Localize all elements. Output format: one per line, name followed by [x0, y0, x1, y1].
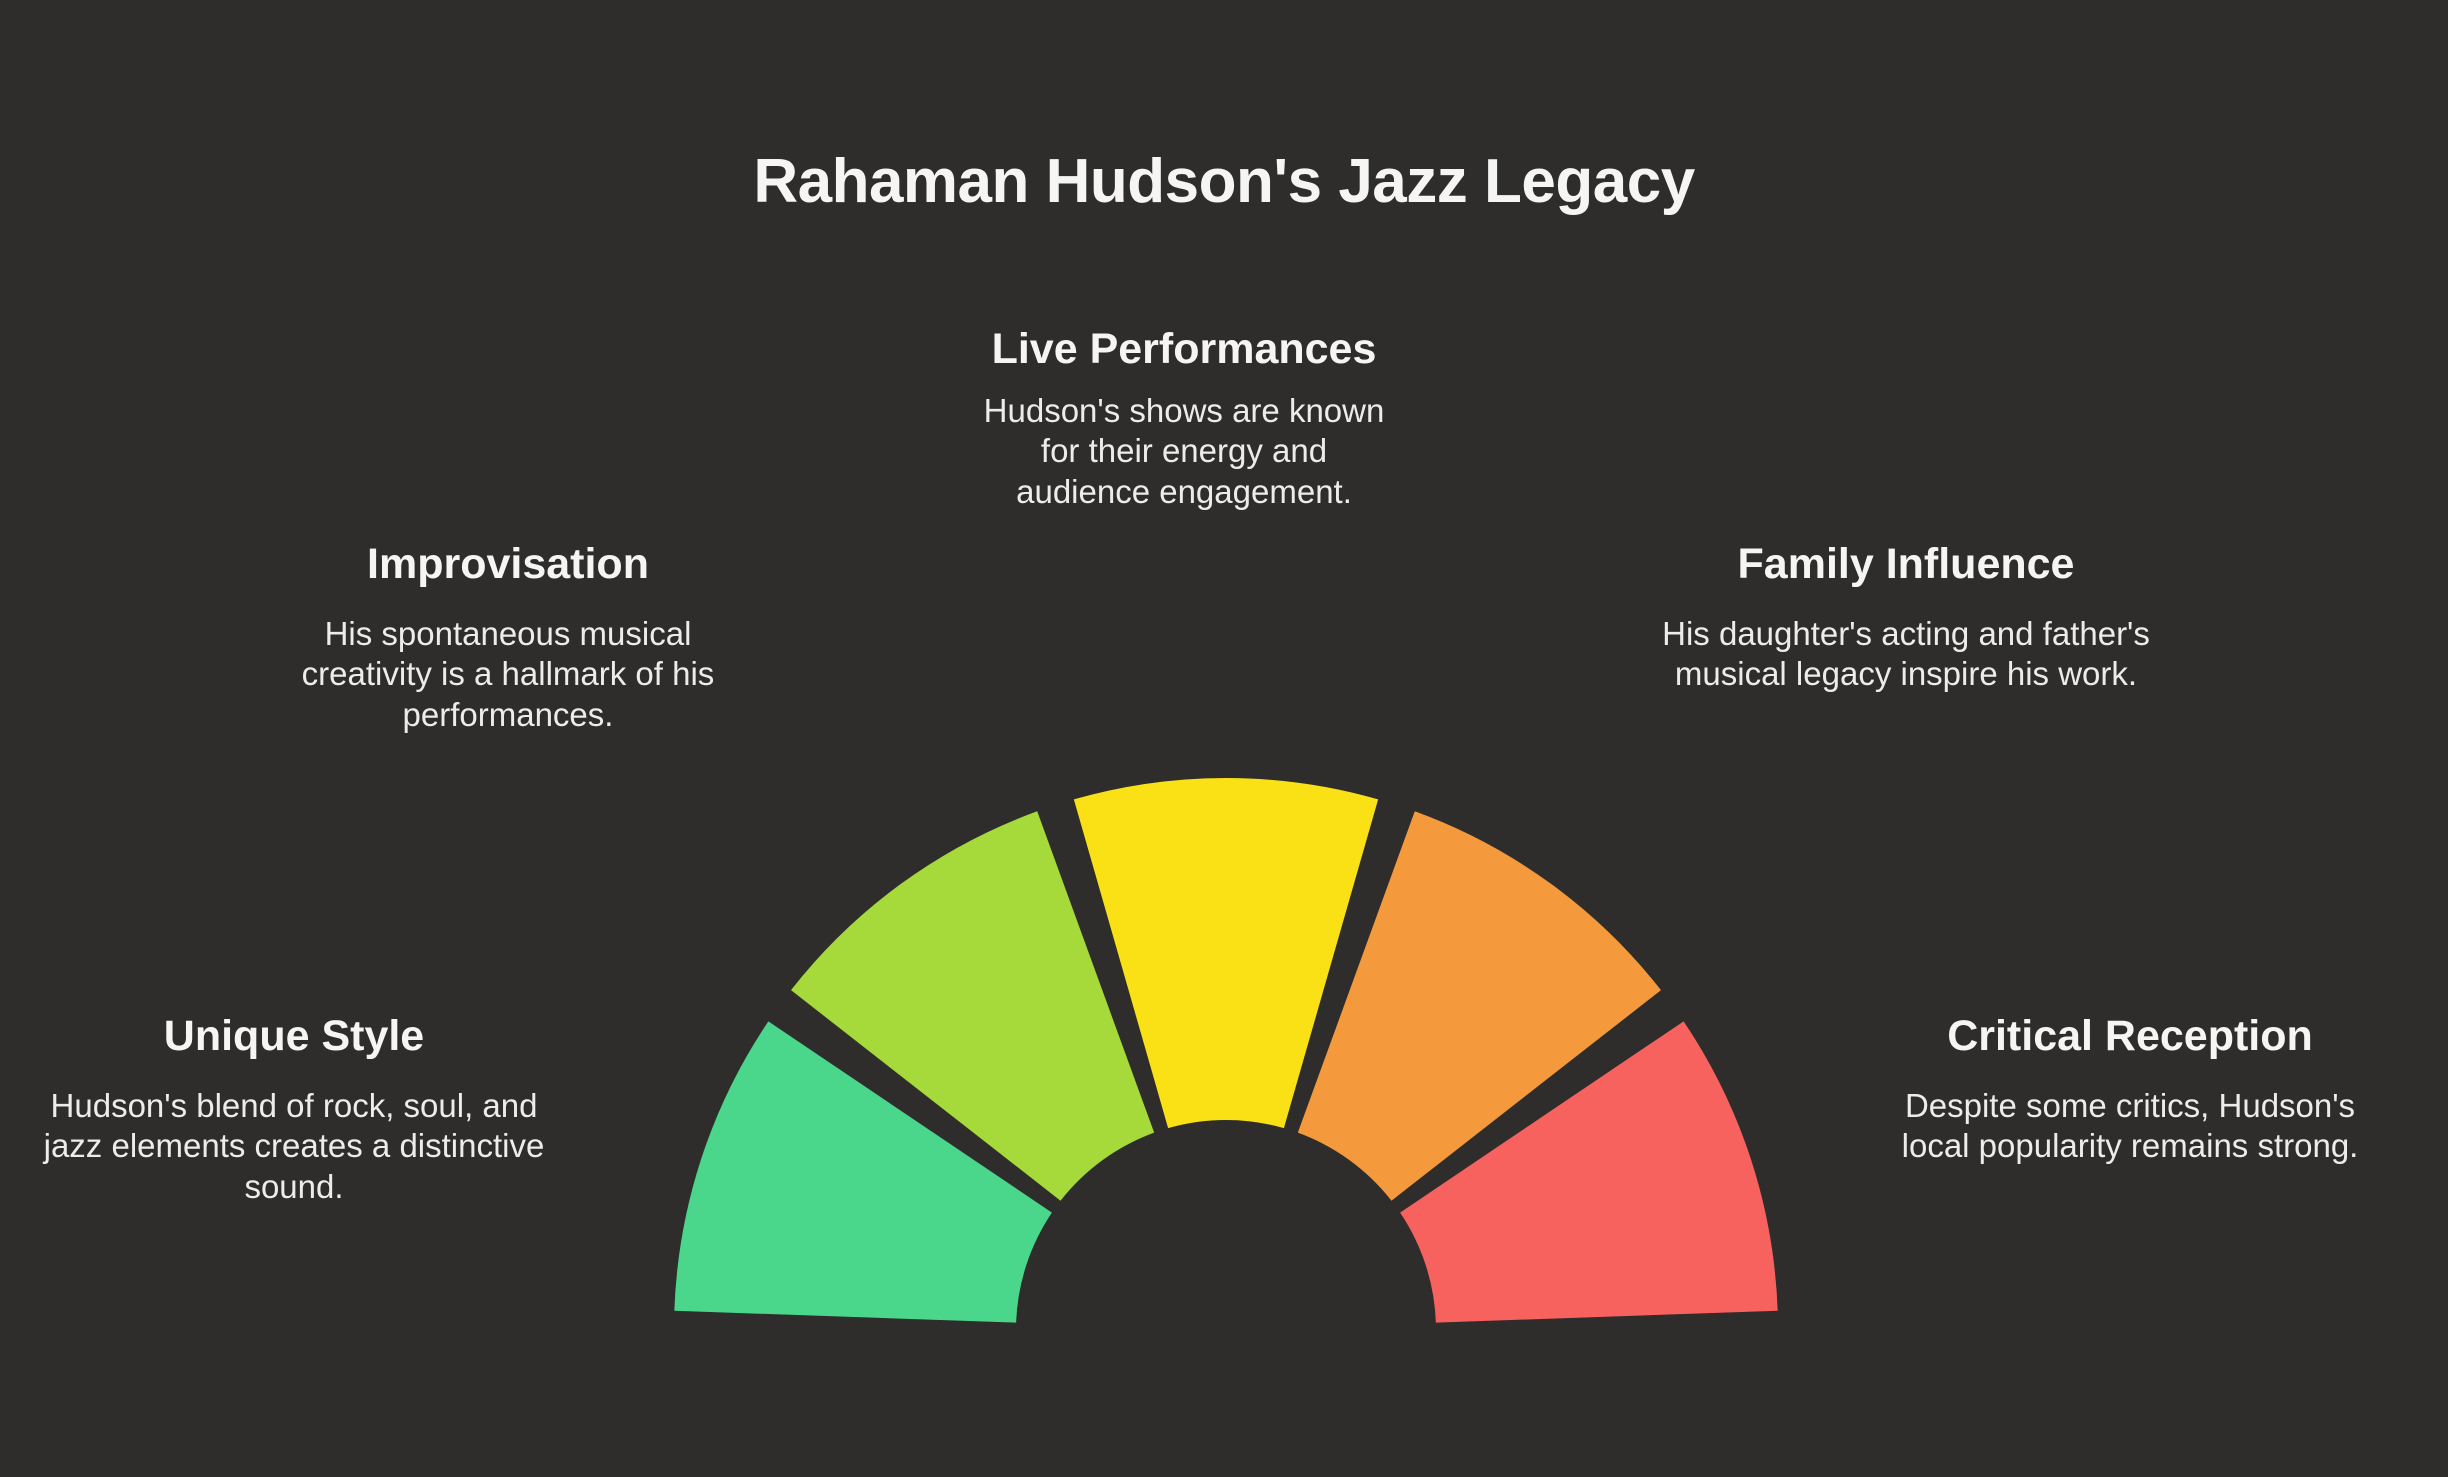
infographic-canvas: Rahaman Hudson's Jazz Legacy Live Perfor…: [0, 0, 2448, 1477]
callout-critical-reception: Critical Reception Despite some critics,…: [1870, 1012, 2390, 1167]
callout-heading-family-influence: Family Influence: [1660, 540, 2152, 588]
callout-improvisation: Improvisation His spontaneous musical cr…: [278, 540, 738, 735]
callout-family-influence: Family Influence His daughter's acting a…: [1660, 540, 2152, 695]
callout-description-critical-reception: Despite some critics, Hudson's local pop…: [1870, 1086, 2390, 1167]
callout-unique-style: Unique Style Hudson's blend of rock, sou…: [34, 1012, 554, 1207]
callout-heading-improvisation: Improvisation: [278, 540, 738, 588]
callout-description-live-performances: Hudson's shows are known for their energ…: [972, 391, 1396, 512]
donut-svg: Unique StyleImprovisationLive Performanc…: [646, 760, 1806, 1340]
page-title: Rahaman Hudson's Jazz Legacy: [0, 148, 2448, 216]
callout-heading-live-performances: Live Performances: [972, 325, 1396, 373]
callout-live-performances: Live Performances Hudson's shows are kno…: [972, 325, 1396, 512]
callout-heading-unique-style: Unique Style: [34, 1012, 554, 1060]
semicircular-donut-chart: Unique StyleImprovisationLive Performanc…: [646, 760, 1806, 1340]
donut-arc-group: Unique StyleImprovisationLive Performanc…: [674, 778, 1777, 1323]
callout-description-unique-style: Hudson's blend of rock, soul, and jazz e…: [34, 1086, 554, 1207]
callout-description-family-influence: His daughter's acting and father's music…: [1660, 614, 2152, 695]
callout-description-improvisation: His spontaneous musical creativity is a …: [278, 614, 738, 735]
callout-heading-critical-reception: Critical Reception: [1870, 1012, 2390, 1060]
